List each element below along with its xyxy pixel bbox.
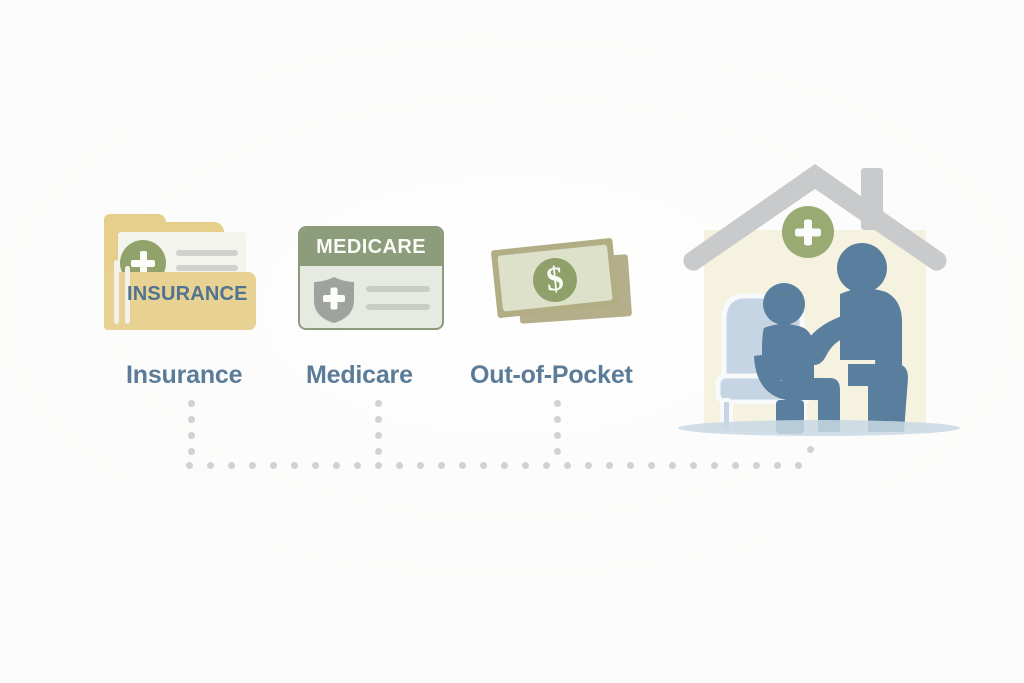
- connector-dot-horizontal: [690, 462, 697, 469]
- home-care-scene-icon: [672, 152, 960, 452]
- connector-dot-vertical: [188, 416, 195, 423]
- connector-dot-horizontal: [249, 462, 256, 469]
- label-medicare: Medicare: [306, 363, 413, 388]
- medicare-card-icon: MEDICARE: [298, 226, 444, 330]
- connector-dot-horizontal: [543, 462, 550, 469]
- connector-dot-horizontal: [438, 462, 445, 469]
- connector-dot-horizontal: [606, 462, 613, 469]
- connector-dot-vertical: [188, 448, 195, 455]
- card-line-2: [366, 304, 430, 310]
- connector-dot-horizontal: [585, 462, 592, 469]
- connector-dot-horizontal: [564, 462, 571, 469]
- cash-money-icon: $: [492, 236, 637, 334]
- document-line-1: [176, 250, 238, 256]
- medicare-word-mark: MEDICARE: [316, 236, 426, 259]
- connector-dot-horizontal: [228, 462, 235, 469]
- connector-dot-vertical: [554, 448, 561, 455]
- connector-dot-horizontal: [417, 462, 424, 469]
- connector-dot-horizontal: [270, 462, 277, 469]
- connector-dot-horizontal: [207, 462, 214, 469]
- label-insurance: Insurance: [126, 363, 242, 388]
- connector-dot-horizontal: [774, 462, 781, 469]
- dollar-sign-glyph: $: [545, 262, 565, 298]
- connector-dot-horizontal: [711, 462, 718, 469]
- connector-dot-vertical-end: [807, 446, 814, 453]
- connector-dot-horizontal: [354, 462, 361, 469]
- connector-dot-vertical: [375, 448, 382, 455]
- document-line-2: [176, 265, 238, 271]
- connector-dot-horizontal: [648, 462, 655, 469]
- connector-dot-horizontal: [669, 462, 676, 469]
- card-line-1: [366, 286, 430, 292]
- connector-dot-horizontal: [501, 462, 508, 469]
- label-out-of-pocket: Out-of-Pocket: [470, 363, 633, 388]
- connector-dot-horizontal: [522, 462, 529, 469]
- connector-dot-horizontal: [732, 462, 739, 469]
- connector-dot-vertical: [375, 416, 382, 423]
- connector-dot-horizontal: [333, 462, 340, 469]
- connector-dot-horizontal: [375, 462, 382, 469]
- connector-dot-horizontal: [627, 462, 634, 469]
- shield-cross-icon: [312, 276, 356, 324]
- folder-tab: [104, 214, 166, 232]
- connector-dot-horizontal: [753, 462, 760, 469]
- connector-dot-horizontal: [795, 462, 802, 469]
- connector-dot-vertical: [554, 432, 561, 439]
- connector-dot-vertical: [188, 432, 195, 439]
- senior-head: [763, 283, 805, 325]
- connector-dot-horizontal: [312, 462, 319, 469]
- connector-dot-vertical: [554, 400, 561, 407]
- connector-dot-horizontal: [459, 462, 466, 469]
- infographic-canvas: INSURANCE MEDICARE $: [0, 0, 1024, 683]
- paper-edge-1: [114, 260, 119, 324]
- connector-dot-horizontal: [396, 462, 403, 469]
- floor-shadow: [678, 420, 960, 436]
- caregiver-head: [837, 243, 887, 293]
- medicare-card-header: MEDICARE: [300, 228, 442, 266]
- home-care-illustration: [672, 152, 960, 452]
- insurance-word-mark: INSURANCE: [127, 283, 248, 306]
- house-cross-bar-v: [804, 220, 812, 246]
- insurance-folder-icon: INSURANCE: [104, 214, 256, 332]
- connector-dot-vertical: [375, 400, 382, 407]
- connector-dot-vertical: [188, 400, 195, 407]
- connector-dot-vertical: [554, 416, 561, 423]
- connector-dot-vertical: [375, 432, 382, 439]
- connector-dot-horizontal: [186, 462, 193, 469]
- connector-dot-horizontal: [291, 462, 298, 469]
- connector-dot-horizontal: [480, 462, 487, 469]
